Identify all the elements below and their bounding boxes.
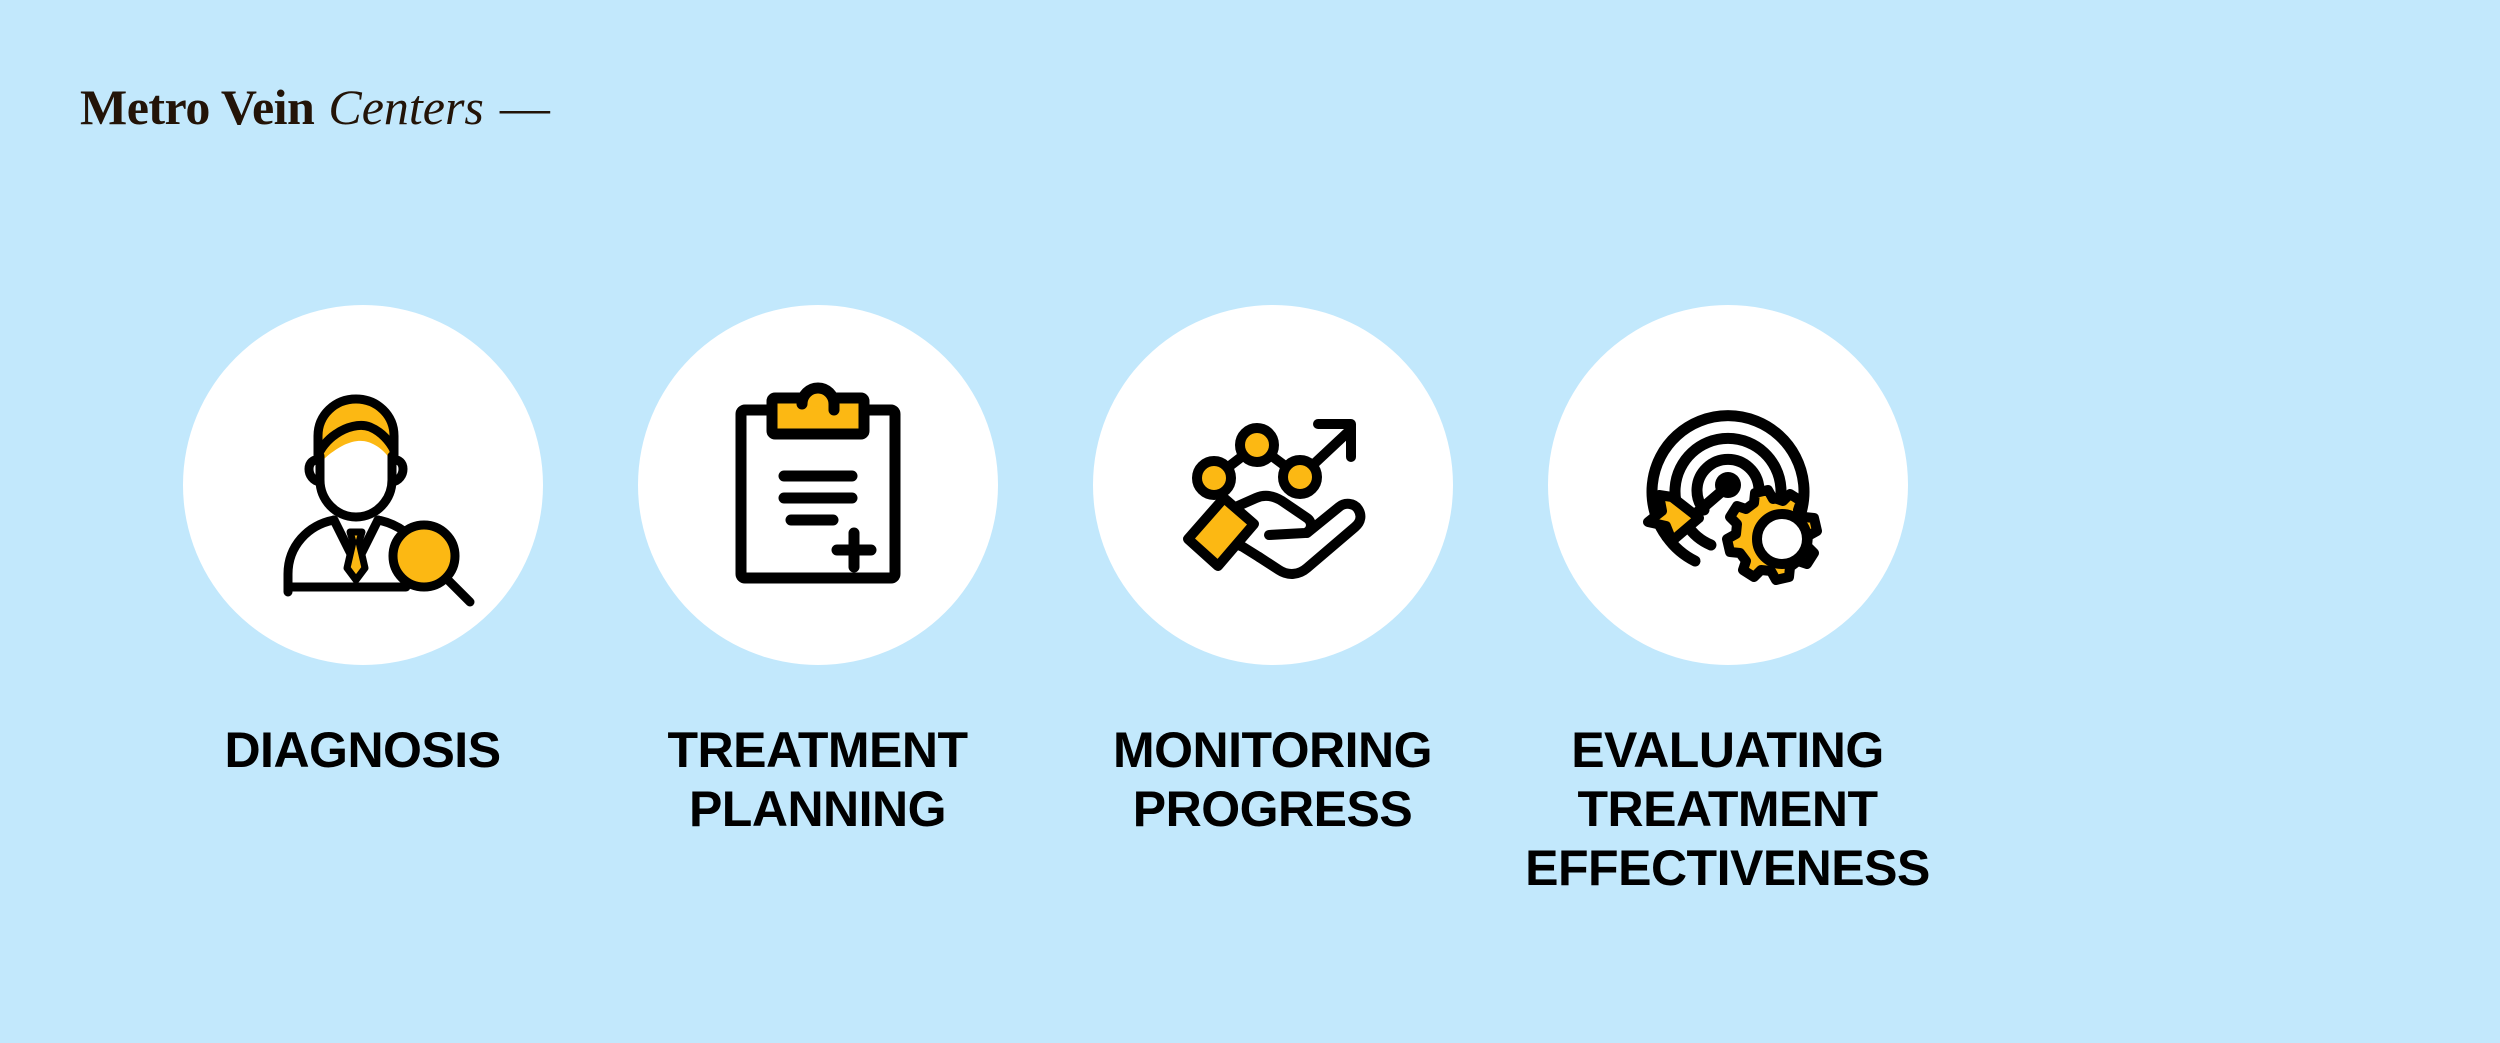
step-treatment-planning: TREATMENT PLANNING	[590, 305, 1045, 839]
doctor-magnifier-icon	[238, 360, 488, 610]
brand-logo: Metro Vein Centers —	[80, 82, 550, 132]
step-label: DIAGNOSIS	[224, 721, 500, 780]
step-diagnosis: DIAGNOSIS	[135, 305, 590, 780]
step-icon-circle	[183, 305, 543, 665]
step-label: MONITORING PROGRESS	[1113, 721, 1432, 839]
step-label: TREATMENT PLANNING	[667, 721, 967, 839]
brand-name-bold: Metro Vein	[80, 82, 314, 132]
hand-growth-chart-icon	[1158, 370, 1388, 600]
step-monitoring-progress: MONITORING PROGRESS	[1045, 305, 1500, 839]
step-label: EVALUATING TREATMENT EFFECTIVENESS	[1525, 721, 1930, 898]
clipboard-plus-icon	[713, 380, 923, 590]
step-icon-circle	[1548, 305, 1908, 665]
step-evaluating-effectiveness: EVALUATING TREATMENT EFFECTIVENESS	[1500, 305, 1955, 898]
process-steps-row: DIAGNOSIS TR	[0, 305, 2500, 898]
step-icon-circle	[638, 305, 998, 665]
brand-name-italic: Centers	[328, 82, 484, 132]
step-icon-circle	[1093, 305, 1453, 665]
target-arrow-gear-icon	[1608, 365, 1848, 605]
brand-dash: —	[500, 82, 550, 132]
